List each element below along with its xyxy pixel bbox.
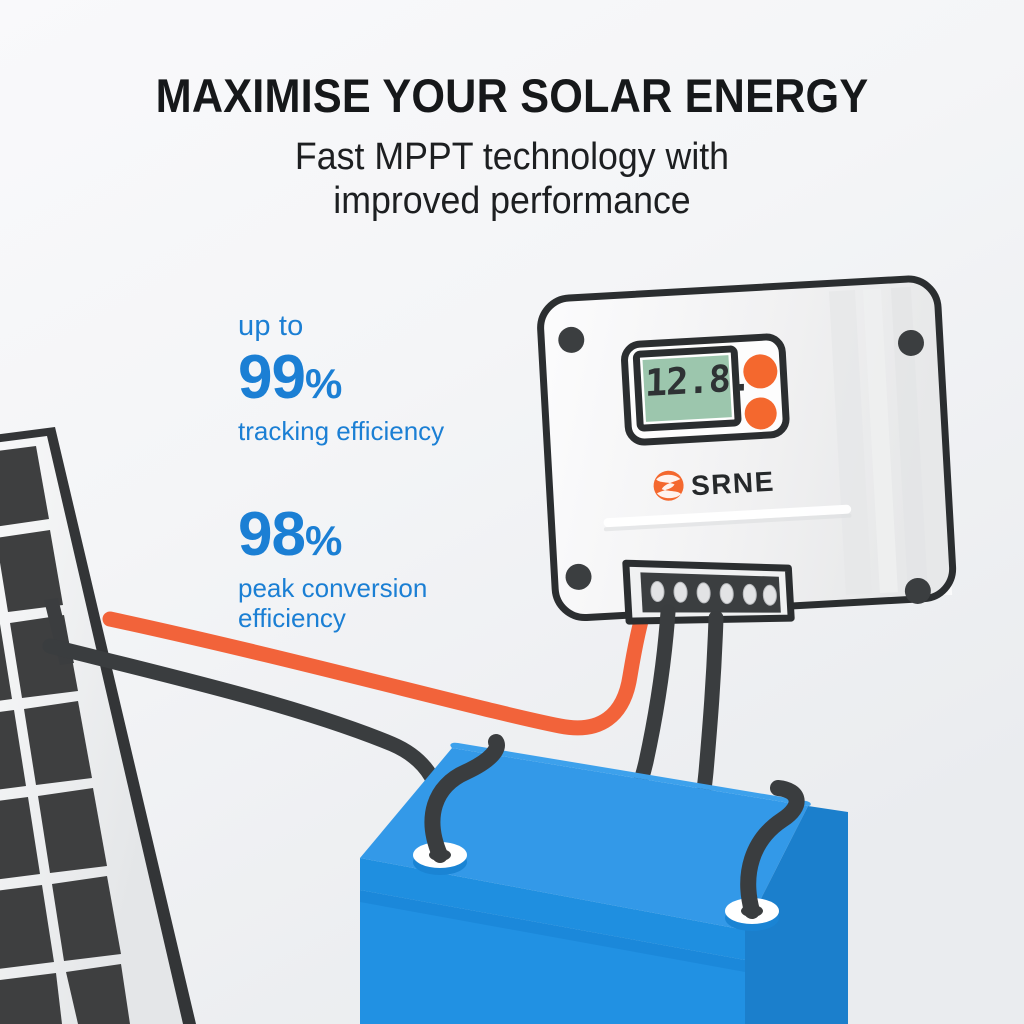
lcd-screen bbox=[643, 355, 732, 422]
srne-brand-wordmark: SRNE bbox=[690, 466, 775, 503]
header-block: MAXIMISE YOUR SOLAR ENERGY Fast MPPT tec… bbox=[0, 0, 1024, 223]
subtitle-line-1: Fast MPPT technology with bbox=[31, 135, 994, 179]
stat-tracking-prefix: up to bbox=[238, 312, 444, 341]
stat-conversion-label-line-1: peak conversion bbox=[238, 573, 427, 603]
stat-conversion-value-row: 98% bbox=[238, 502, 427, 567]
solar-infographic-poster: MAXIMISE YOUR SOLAR ENERGY Fast MPPT tec… bbox=[0, 0, 1024, 1024]
stat-tracking-efficiency: up to 99% tracking efficiency bbox=[238, 312, 444, 446]
page-title: MAXIMISE YOUR SOLAR ENERGY bbox=[41, 0, 983, 119]
stat-tracking-value: 99 bbox=[238, 343, 305, 412]
page-subtitle: Fast MPPT technology with improved perfo… bbox=[31, 119, 994, 223]
stat-conversion-unit: % bbox=[305, 517, 342, 564]
subtitle-line-2: improved performance bbox=[31, 179, 994, 223]
stat-conversion-label: peak conversion efficiency bbox=[238, 573, 427, 633]
charge-controller-group[interactable] bbox=[539, 277, 955, 631]
stat-peak-conversion-efficiency: 98% peak conversion efficiency bbox=[238, 498, 427, 633]
stat-tracking-label-line-1: tracking efficiency bbox=[238, 416, 444, 446]
stat-tracking-value-row: 99% bbox=[238, 345, 444, 410]
stat-tracking-unit: % bbox=[305, 360, 342, 407]
stat-tracking-label: tracking efficiency bbox=[238, 416, 444, 446]
stat-conversion-label-line-2: efficiency bbox=[238, 603, 427, 633]
battery-group[interactable] bbox=[360, 742, 848, 1024]
stat-conversion-value: 98 bbox=[238, 500, 305, 569]
